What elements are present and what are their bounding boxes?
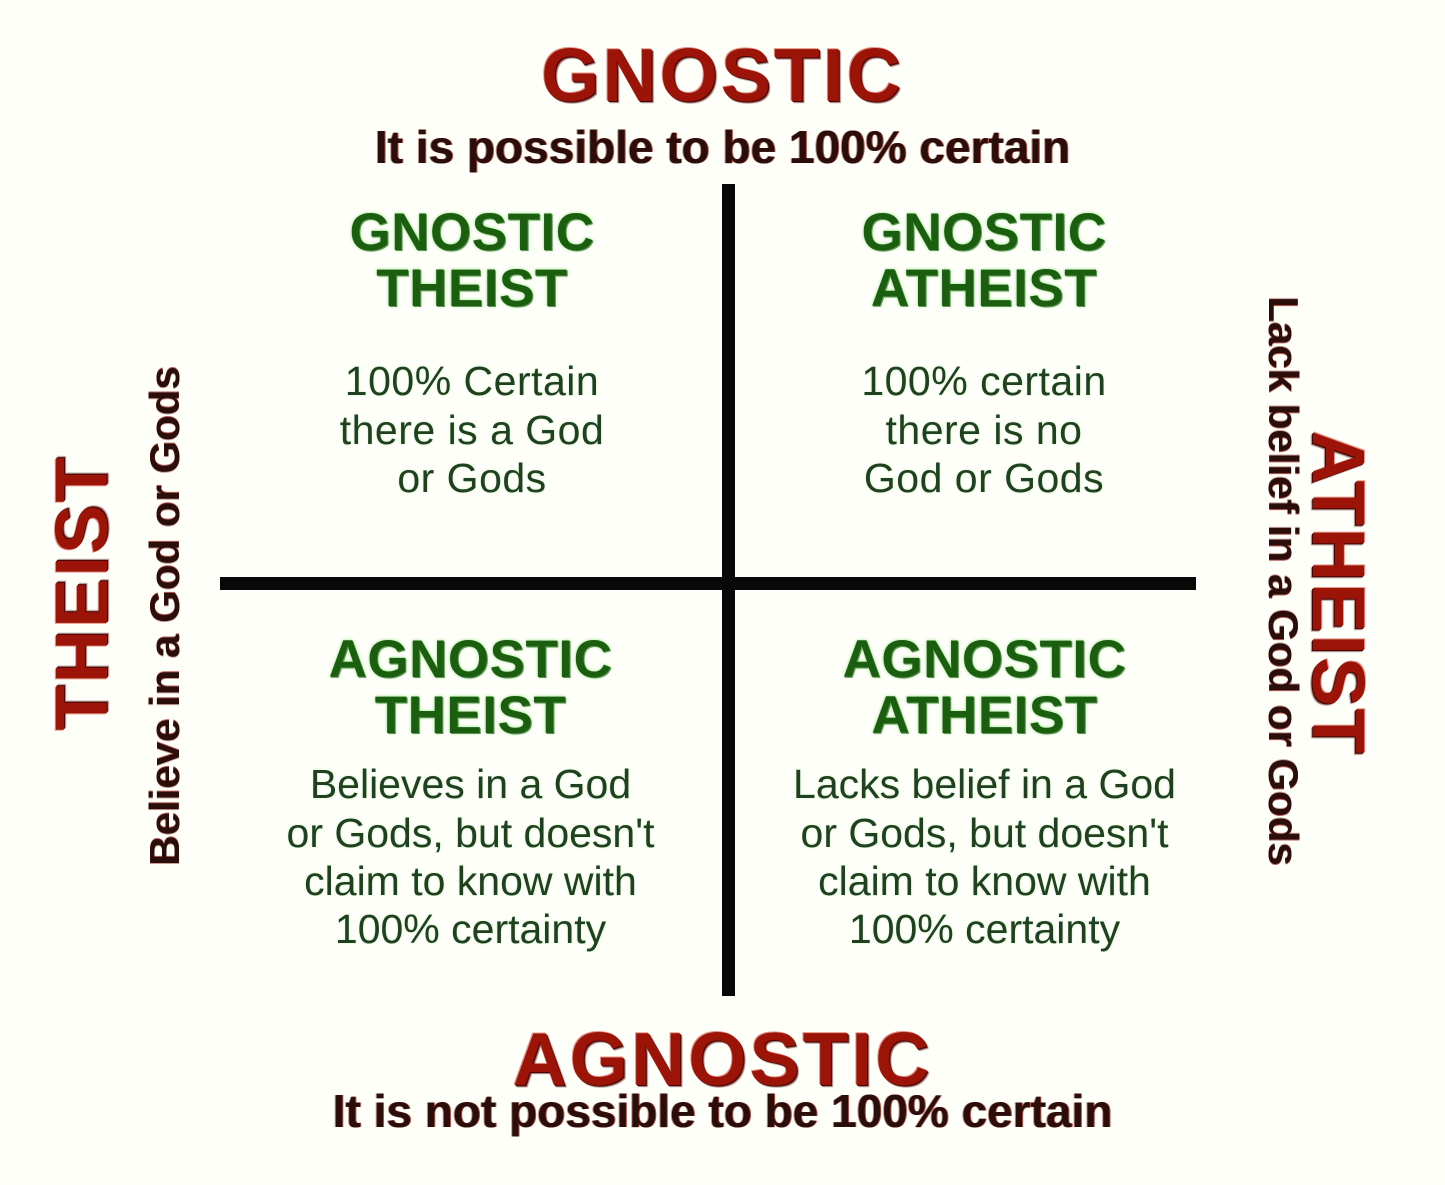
axis-label-theist: THEIST [45,455,119,730]
quadrant-title: GNOSTIC THEIST [232,205,712,317]
quadrant-description: Believes in a God or Gods, but doesn't c… [228,760,713,954]
quadrant-agnostic-atheist: AGNOSTIC ATHEIST Lacks belief in a God o… [742,632,1227,954]
vertical-axis-line [722,184,735,996]
horizontal-axis-line [220,577,1196,590]
axis-sublabel-agnostic: It is not possible to be 100% certain [0,1088,1445,1134]
quadrant-title: AGNOSTIC THEIST [228,632,713,744]
quadrant-gnostic-theist: GNOSTIC THEIST 100% Certain there is a G… [232,205,712,502]
quadrant-description: 100% Certain there is a God or Gods [232,357,712,502]
axis-sublabel-atheist: Lack belief in a God or Gods [1262,296,1304,865]
axis-sublabel-gnostic: It is possible to be 100% certain [0,124,1445,170]
quadrant-description: Lacks belief in a God or Gods, but doesn… [742,760,1227,954]
quadrant-agnostic-theist: AGNOSTIC THEIST Believes in a God or God… [228,632,713,954]
axis-sublabel-theist: Believe in a God or Gods [144,366,186,865]
axis-label-gnostic: GNOSTIC [0,38,1445,113]
quadrant-gnostic-atheist: GNOSTIC ATHEIST 100% certain there is no… [745,205,1223,502]
quadrant-description: 100% certain there is no God or Gods [745,357,1223,502]
belief-knowledge-matrix-diagram: GNOSTIC It is possible to be 100% certai… [0,0,1445,1185]
quadrant-title: AGNOSTIC ATHEIST [742,632,1227,744]
axis-label-atheist: ATHEIST [1301,430,1375,755]
quadrant-title: GNOSTIC ATHEIST [745,205,1223,317]
